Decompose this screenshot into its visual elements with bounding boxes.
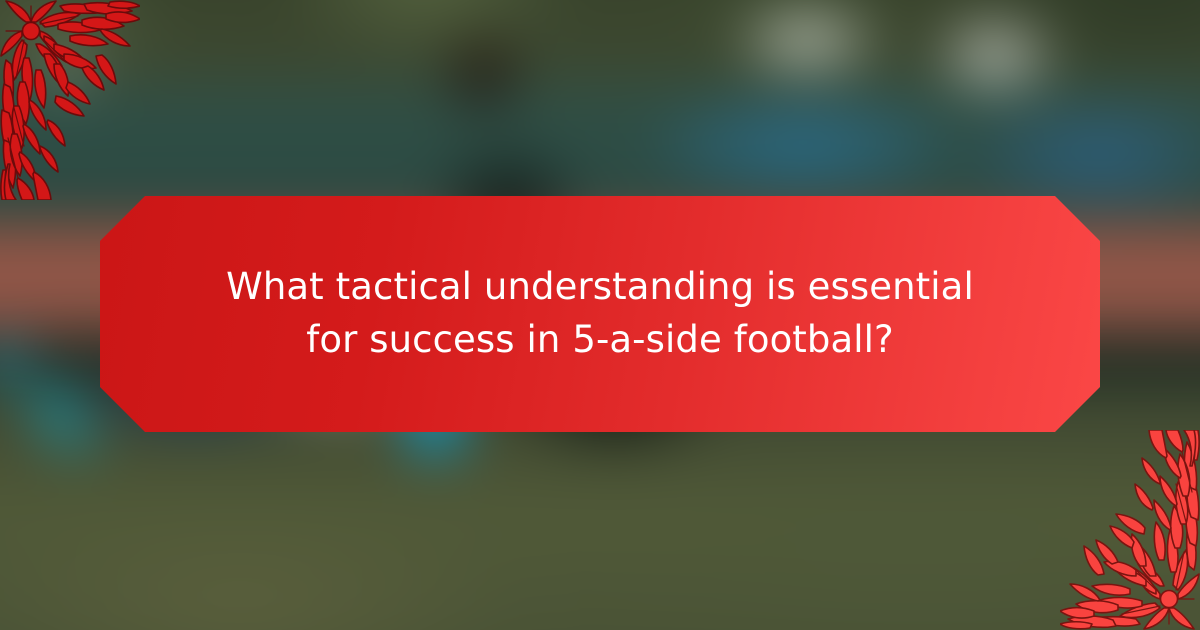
share-card-canvas: What tactical understanding is essential… [0, 0, 1200, 630]
background-fence-blue-panel [653, 90, 953, 200]
headline-text: What tactical understanding is essential… [205, 261, 995, 366]
question-banner: What tactical understanding is essential… [100, 196, 1100, 432]
background-light-blob [732, 0, 882, 80]
background-light-blob-2 [930, 10, 1060, 100]
